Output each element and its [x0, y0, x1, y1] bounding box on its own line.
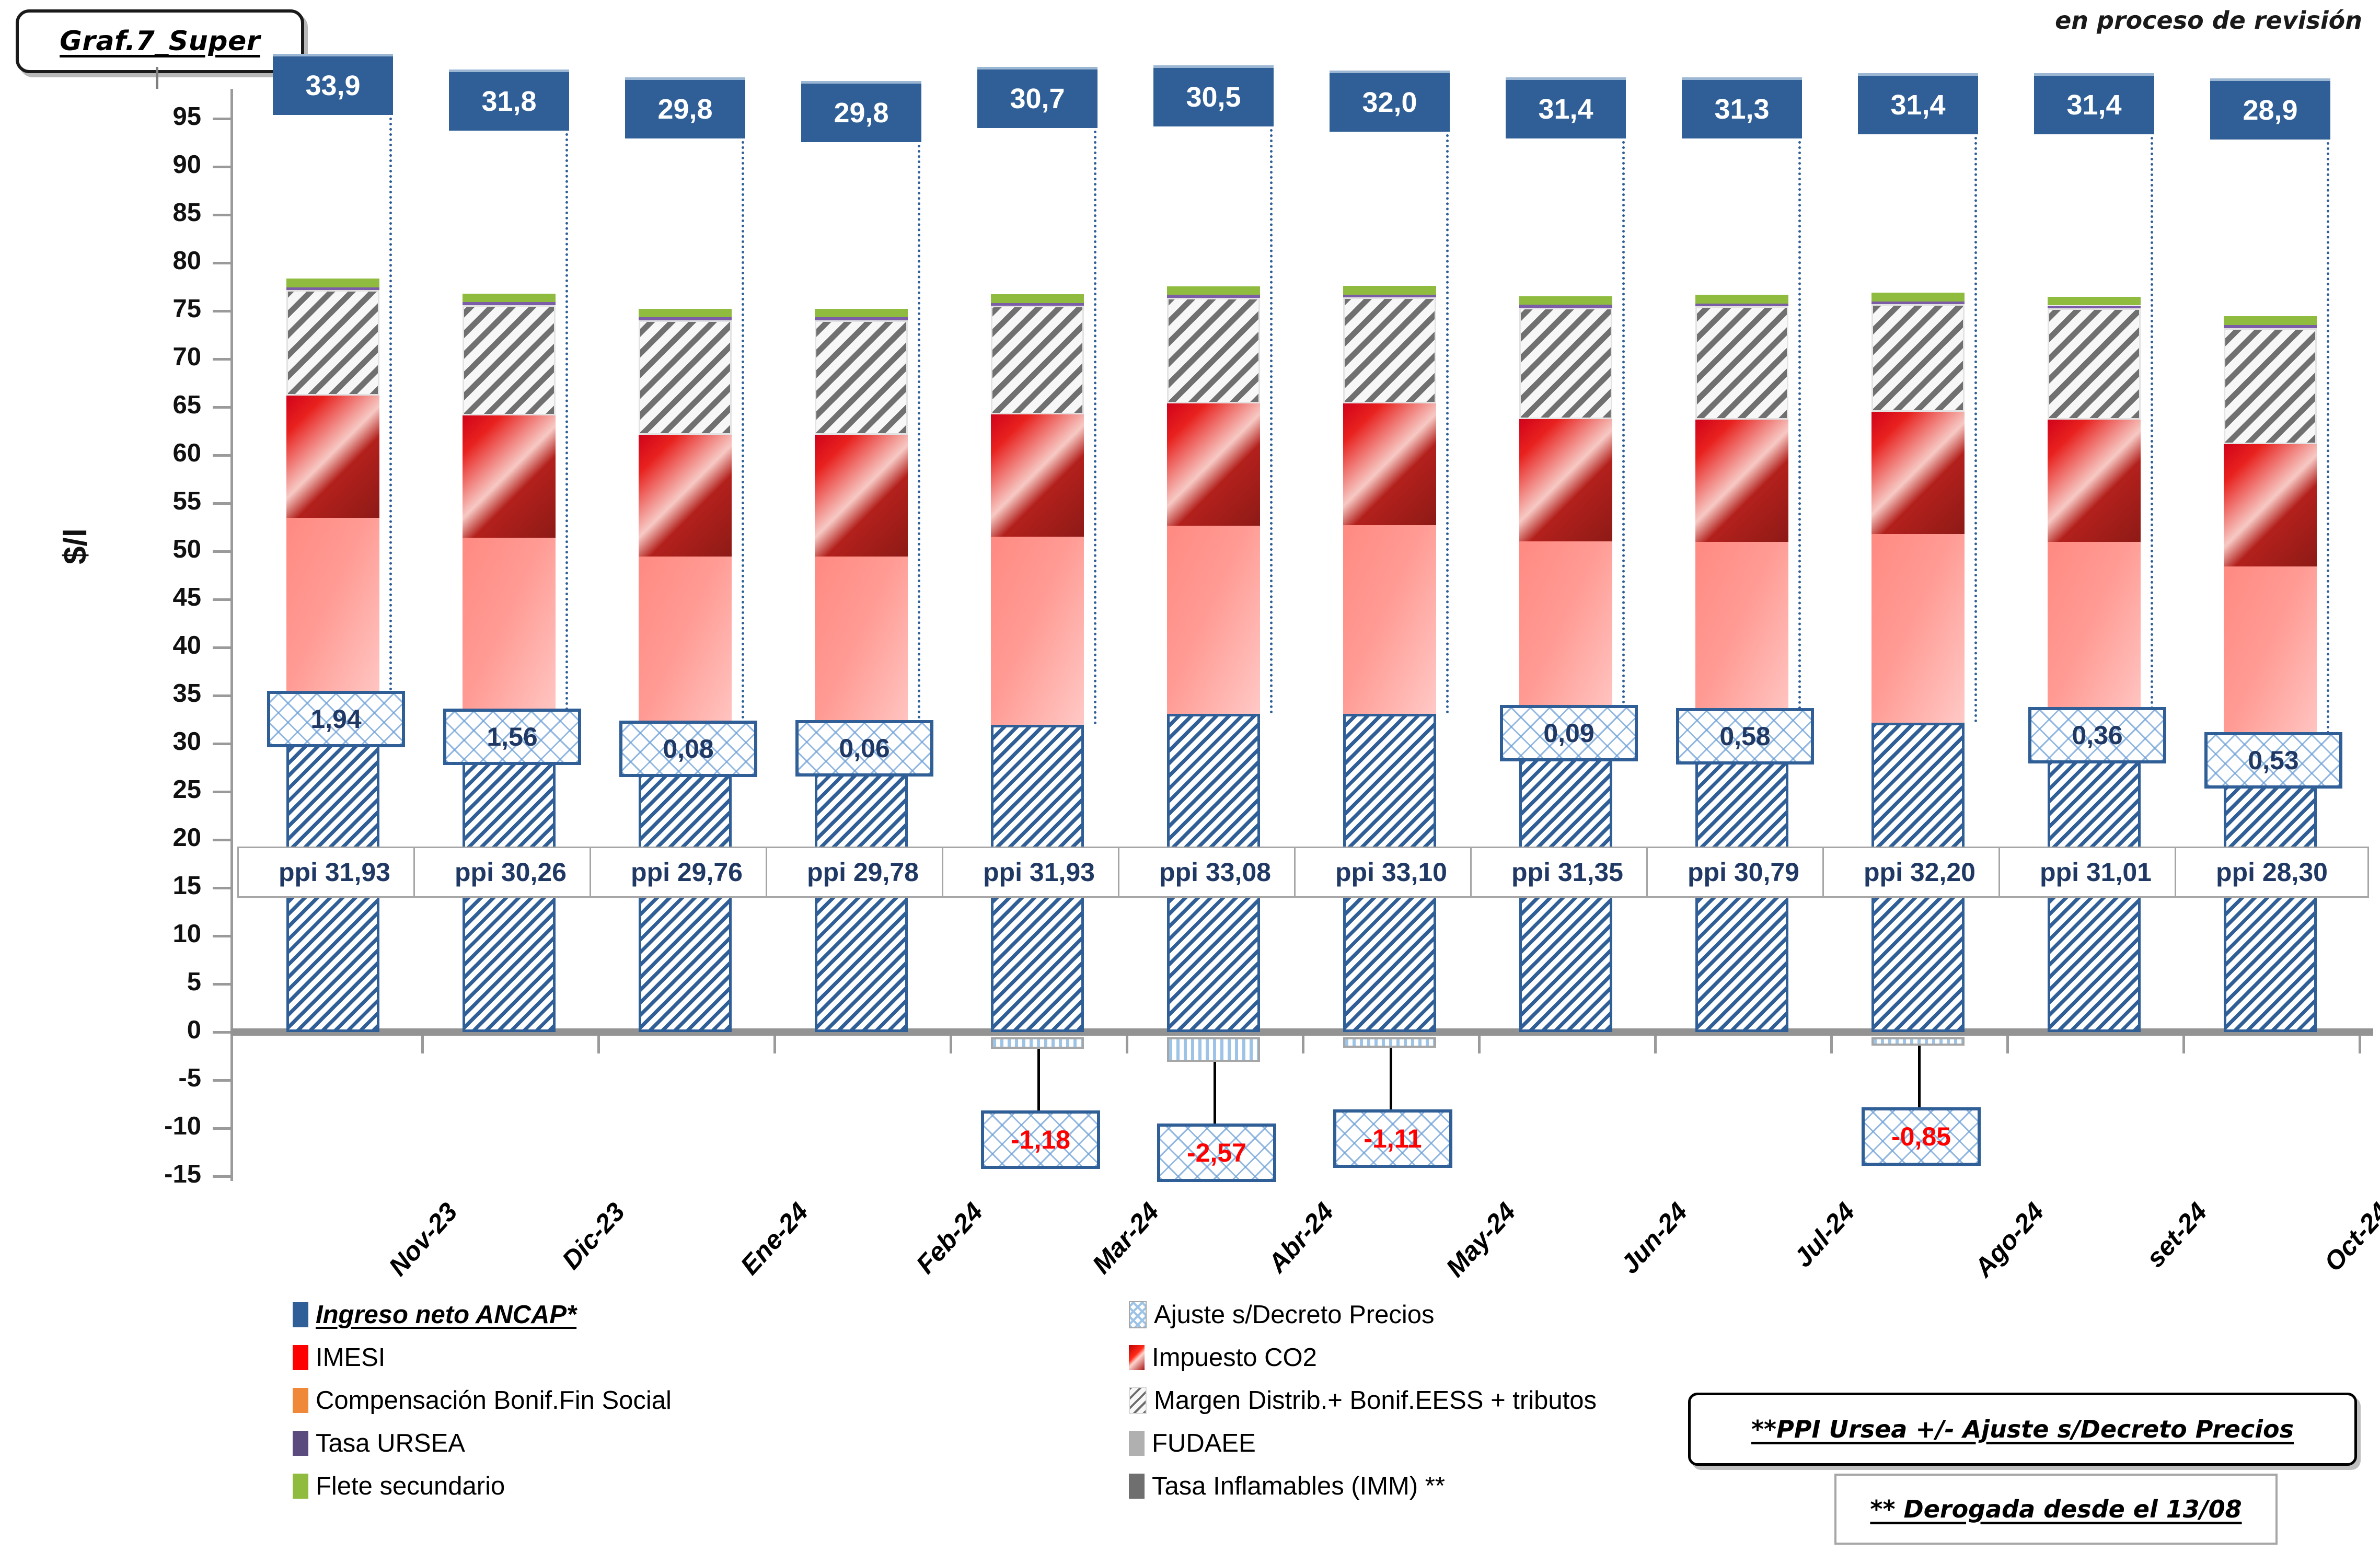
y-tick-label: 75	[118, 294, 201, 323]
segment-imesi	[2224, 566, 2317, 755]
y-tick	[213, 1175, 230, 1178]
legend-item-label: Tasa Inflamables (IMM) **	[1152, 1472, 1445, 1501]
bar-group[interactable]	[2224, 0, 2317, 1254]
y-tick-label: 95	[118, 102, 201, 131]
legend-swatch-icon	[1129, 1301, 1147, 1328]
y-tick-label: -5	[118, 1063, 201, 1093]
y-tick-label: 55	[118, 487, 201, 516]
total-leader-line	[1270, 124, 1273, 714]
bar-group[interactable]	[815, 0, 908, 1254]
total-leader-line	[1974, 132, 1977, 723]
negative-leader-line	[1037, 1049, 1040, 1110]
bar-group[interactable]	[1695, 0, 1788, 1254]
legend-item-label: Impuesto CO2	[1152, 1343, 1317, 1372]
total-leader-line	[918, 140, 920, 745]
x-axis-label: set-24	[2140, 1197, 2213, 1273]
x-axis-label: Feb-24	[910, 1197, 989, 1280]
y-tick-label: 10	[118, 919, 201, 948]
total-leader-line	[1798, 136, 1801, 731]
bar-total-label: 33,9	[273, 54, 393, 115]
legend-swatch-icon	[293, 1302, 308, 1327]
x-axis-label: Nov-23	[383, 1197, 464, 1282]
ppi-label: ppi 33,10	[1294, 847, 1488, 898]
y-tick	[213, 935, 230, 937]
segment-tasa-ursea	[463, 302, 556, 305]
segment-ajuste-decreto-precios-negative	[991, 1037, 1084, 1049]
ajuste-value-label: 0,09	[1500, 705, 1638, 761]
y-tick	[213, 118, 230, 120]
segment-margen-distrib	[639, 320, 732, 435]
segment-margen-distrib	[815, 320, 908, 435]
segment-tasa-ursea	[815, 317, 908, 320]
y-tick	[213, 887, 230, 889]
x-tick	[773, 1036, 776, 1053]
y-tick	[213, 1127, 230, 1130]
x-tick	[1126, 1036, 1128, 1053]
x-axis-label: Abr-24	[1262, 1197, 1339, 1279]
x-tick	[2006, 1036, 2009, 1053]
segment-flete-secundario	[1519, 296, 1612, 305]
total-leader-line	[742, 136, 744, 745]
segment-flete-secundario	[639, 309, 732, 318]
y-tick-label: 90	[118, 150, 201, 179]
ppi-label: ppi 32,20	[1822, 847, 2017, 898]
ajuste-value-label: 0,53	[2204, 732, 2342, 789]
x-axis-label: Oct-24	[2318, 1197, 2380, 1277]
y-tick	[213, 262, 230, 264]
bar-total-label: 30,7	[977, 67, 1097, 128]
legend-swatch-icon	[1129, 1345, 1145, 1370]
bar-total-label: 31,8	[449, 70, 569, 131]
y-tick	[213, 550, 230, 553]
legend-swatch-icon	[293, 1431, 308, 1456]
bar-total-label: 31,4	[1506, 77, 1626, 138]
ppi-label: ppi 30,26	[413, 847, 608, 898]
legend-item[interactable]: Ajuste s/Decreto Precios	[1129, 1296, 1597, 1334]
legend-item[interactable]: Tasa Inflamables (IMM) **	[1129, 1467, 1597, 1505]
segment-ajuste-decreto-precios-negative	[1343, 1037, 1436, 1048]
segment-flete-secundario	[1871, 293, 1965, 302]
negative-leader-line	[1390, 1048, 1392, 1109]
y-tick	[213, 743, 230, 745]
note-derogada: ** Derogada desde el 13/08	[1834, 1474, 2278, 1545]
segment-impuesto-co2	[463, 415, 556, 538]
x-axis-label: Jul-24	[1788, 1197, 1861, 1273]
bar-group[interactable]	[463, 0, 556, 1254]
y-tick	[213, 502, 230, 505]
y-tick	[213, 791, 230, 793]
y-tick	[213, 1031, 230, 1034]
legend-item-label: Ajuste s/Decreto Precios	[1154, 1300, 1435, 1329]
x-tick	[2182, 1036, 2185, 1053]
ajuste-value-label: 1,56	[443, 709, 581, 765]
x-tick	[421, 1036, 424, 1053]
segment-tasa-ursea	[1167, 295, 1260, 298]
segment-imesi	[1167, 526, 1260, 714]
segment-impuesto-co2	[1343, 403, 1436, 526]
segment-ajuste-decreto-precios-negative	[1871, 1037, 1965, 1046]
ppi-label: ppi 33,08	[1118, 847, 1312, 898]
legend-swatch-icon	[1129, 1387, 1147, 1414]
y-tick-label: 50	[118, 535, 201, 564]
bar-group[interactable]	[639, 0, 732, 1254]
y-tick-label: -10	[118, 1111, 201, 1141]
y-tick	[213, 406, 230, 409]
ajuste-value-label: 0,36	[2028, 707, 2166, 763]
segment-impuesto-co2	[1871, 412, 1965, 534]
x-axis-label: Ago-24	[1968, 1197, 2050, 1283]
segment-impuesto-co2	[1167, 403, 1260, 526]
segment-tasa-ursea	[1343, 295, 1436, 298]
y-tick	[213, 694, 230, 697]
segment-margen-distrib	[2048, 308, 2141, 420]
ajuste-value-label-negative: -1,18	[981, 1110, 1100, 1169]
segment-flete-secundario	[1695, 295, 1788, 304]
legend-column-right: Ajuste s/Decreto PreciosImpuesto CO2Marg…	[1129, 1296, 1597, 1510]
legend-item[interactable]: Tasa URSEA	[293, 1424, 672, 1462]
x-axis-label: Jun-24	[1614, 1197, 1693, 1280]
bar-total-label: 30,5	[1153, 65, 1274, 126]
ajuste-value-label: 0,08	[619, 721, 757, 777]
legend-swatch-icon	[1129, 1431, 1145, 1456]
segment-margen-distrib	[1695, 306, 1788, 420]
segment-impuesto-co2	[815, 435, 908, 557]
segment-tasa-ursea	[991, 303, 1084, 306]
ppi-label: ppi 28,30	[2175, 847, 2369, 898]
y-tick-label: 45	[118, 583, 201, 612]
segment-tasa-ursea	[1871, 302, 1965, 305]
x-axis-label: Dic-23	[556, 1197, 631, 1275]
segment-imesi	[815, 557, 908, 745]
note-ppi-text: **PPI Ursea +/- Ajuste s/Decreto Precios	[1751, 1415, 2294, 1443]
y-tick-label: 40	[118, 631, 201, 660]
y-tick-label: -15	[118, 1160, 201, 1189]
y-tick-label: 20	[118, 823, 201, 852]
y-tick	[213, 839, 230, 841]
segment-margen-distrib	[1343, 297, 1436, 403]
segment-imesi	[286, 518, 379, 706]
y-tick	[213, 358, 230, 361]
y-tick-label: 85	[118, 198, 201, 227]
y-tick	[213, 646, 230, 649]
x-axis-label: May-24	[1440, 1197, 1522, 1283]
segment-impuesto-co2	[2224, 444, 2317, 566]
segment-flete-secundario	[463, 294, 556, 303]
y-tick-label: 30	[118, 727, 201, 756]
y-tick-label: 60	[118, 438, 201, 468]
ajuste-value-label: 0,06	[795, 720, 933, 777]
legend-item[interactable]: Ingreso neto ANCAP*	[293, 1296, 672, 1334]
note-ppi-ursea: **PPI Ursea +/- Ajuste s/Decreto Precios	[1688, 1393, 2357, 1466]
bar-total-label: 31,3	[1682, 77, 1802, 138]
segment-flete-secundario	[2048, 297, 2141, 306]
segment-ajuste-decreto-precios-negative	[1167, 1037, 1260, 1062]
y-axis-title: $/l	[57, 528, 94, 564]
bar-total-label: 31,4	[2034, 73, 2154, 134]
segment-margen-distrib	[991, 306, 1084, 414]
segment-tasa-ursea	[2224, 325, 2317, 328]
bar-group[interactable]	[2048, 0, 2141, 1254]
segment-imesi	[463, 538, 556, 726]
segment-imesi	[2048, 542, 2141, 731]
y-tick-label: 0	[118, 1015, 201, 1045]
ppi-label: ppi 31,93	[942, 847, 1136, 898]
legend-item[interactable]: FUDAEE	[1129, 1424, 1597, 1462]
ppi-label: ppi 29,76	[590, 847, 784, 898]
segment-impuesto-co2	[2048, 420, 2141, 542]
legend-item[interactable]: Impuesto CO2	[1129, 1339, 1597, 1376]
segment-imesi	[1871, 534, 1965, 723]
legend-swatch-icon	[1129, 1474, 1145, 1499]
y-axis-line	[230, 89, 233, 1181]
y-tick-label: 25	[118, 775, 201, 804]
total-leader-line	[1446, 129, 1449, 714]
ajuste-value-label-negative: -2,57	[1157, 1124, 1276, 1182]
negative-leader-line	[1918, 1046, 1921, 1107]
ppi-label: ppi 31,01	[1998, 847, 2193, 898]
total-leader-line	[1094, 125, 1096, 725]
bar-total-label: 29,8	[801, 81, 921, 142]
legend-item[interactable]: IMESI	[293, 1339, 672, 1376]
bar-total-label: 28,9	[2210, 78, 2330, 140]
segment-flete-secundario	[1167, 286, 1260, 295]
x-axis-label: Ene-24	[734, 1197, 814, 1281]
segment-flete-secundario	[286, 279, 379, 287]
segment-flete-secundario	[815, 309, 908, 318]
segment-imesi	[1695, 542, 1788, 731]
segment-impuesto-co2	[991, 414, 1084, 537]
bar-total-label: 29,8	[625, 77, 745, 138]
legend-item-label: Tasa URSEA	[316, 1429, 465, 1458]
ppi-label: ppi 31,93	[237, 847, 432, 898]
segment-tasa-ursea	[1519, 305, 1612, 308]
legend-swatch-icon	[293, 1388, 308, 1413]
segment-tasa-ursea	[639, 317, 732, 320]
y-tick	[213, 1079, 230, 1082]
note-derogada-text: ** Derogada desde el 13/08	[1870, 1495, 2242, 1523]
legend-item[interactable]: Margen Distrib.+ Bonif.EESS + tributos	[1129, 1382, 1597, 1419]
x-tick	[950, 1036, 952, 1053]
segment-impuesto-co2	[1695, 420, 1788, 542]
y-tick	[213, 214, 230, 216]
ajuste-value-label-negative: -1,11	[1333, 1109, 1452, 1168]
y-tick	[213, 983, 230, 986]
legend-item-label: FUDAEE	[1152, 1429, 1256, 1458]
legend-swatch-icon	[293, 1474, 308, 1499]
segment-flete-secundario	[1343, 286, 1436, 295]
legend-item-label: Margen Distrib.+ Bonif.EESS + tributos	[1154, 1386, 1597, 1415]
y-tick	[213, 598, 230, 601]
total-leader-line	[565, 128, 568, 726]
segment-imesi	[1343, 525, 1436, 714]
y-tick	[213, 310, 230, 312]
y-tick-label: 15	[118, 871, 201, 900]
ppi-label: ppi 31,35	[1470, 847, 1665, 898]
segment-tasa-ursea	[2048, 306, 2141, 309]
legend-column-left: Ingreso neto ANCAP*IMESICompensación Bon…	[293, 1296, 672, 1510]
bar-total-label: 32,0	[1330, 71, 1450, 132]
segment-margen-distrib	[1519, 308, 1612, 419]
y-tick-label: 80	[118, 246, 201, 275]
segment-margen-distrib	[1167, 298, 1260, 403]
segment-imesi	[991, 537, 1084, 725]
segment-margen-distrib	[463, 305, 556, 416]
segment-margen-distrib	[2224, 328, 2317, 445]
x-tick	[597, 1036, 600, 1053]
x-tick	[1830, 1036, 1833, 1053]
x-tick	[1478, 1036, 1481, 1053]
segment-impuesto-co2	[639, 435, 732, 557]
total-leader-line	[389, 112, 392, 706]
segment-flete-secundario	[991, 294, 1084, 303]
ppi-label: ppi 30,79	[1646, 847, 1841, 898]
ajuste-value-label-negative: -0,85	[1862, 1107, 1981, 1166]
x-tick	[2359, 1036, 2361, 1053]
legend-item-label: Flete secundario	[316, 1472, 505, 1501]
y-tick-label: 5	[118, 967, 201, 997]
y-tick-label: 70	[118, 342, 201, 372]
segment-margen-distrib	[286, 290, 379, 396]
legend-swatch-icon	[293, 1345, 308, 1370]
y-tick	[213, 454, 230, 457]
legend-item[interactable]: Compensación Bonif.Fin Social	[293, 1382, 672, 1419]
x-tick	[1654, 1036, 1657, 1053]
segment-tasa-ursea	[286, 287, 379, 291]
ajuste-value-label: 0,58	[1676, 708, 1814, 765]
ppi-label: ppi 29,78	[766, 847, 960, 898]
segment-impuesto-co2	[286, 396, 379, 518]
total-leader-line	[1622, 136, 1625, 730]
segment-tasa-ursea	[1695, 304, 1788, 307]
legend-item-label: Ingreso neto ANCAP*	[316, 1300, 576, 1329]
segment-margen-distrib	[1871, 304, 1965, 412]
segment-imesi	[639, 557, 732, 745]
y-tick	[213, 166, 230, 168]
y-tick-label: 35	[118, 679, 201, 708]
total-leader-line	[2327, 137, 2329, 755]
bar-group[interactable]	[1519, 0, 1612, 1254]
negative-leader-line	[1214, 1062, 1216, 1124]
legend-item-label: IMESI	[316, 1343, 385, 1372]
ajuste-value-label: 1,94	[267, 691, 405, 747]
x-tick	[1302, 1036, 1304, 1053]
total-leader-line	[2151, 132, 2153, 731]
bar-group[interactable]	[286, 0, 379, 1254]
legend-item-label: Compensación Bonif.Fin Social	[316, 1386, 672, 1415]
legend-item[interactable]: Flete secundario	[293, 1467, 672, 1505]
segment-imesi	[1519, 541, 1612, 730]
bar-total-label: 31,4	[1858, 73, 1978, 134]
x-axis-label: Mar-24	[1086, 1197, 1165, 1280]
segment-impuesto-co2	[1519, 419, 1612, 541]
y-tick-label: 65	[118, 390, 201, 420]
segment-flete-secundario	[2224, 316, 2317, 325]
